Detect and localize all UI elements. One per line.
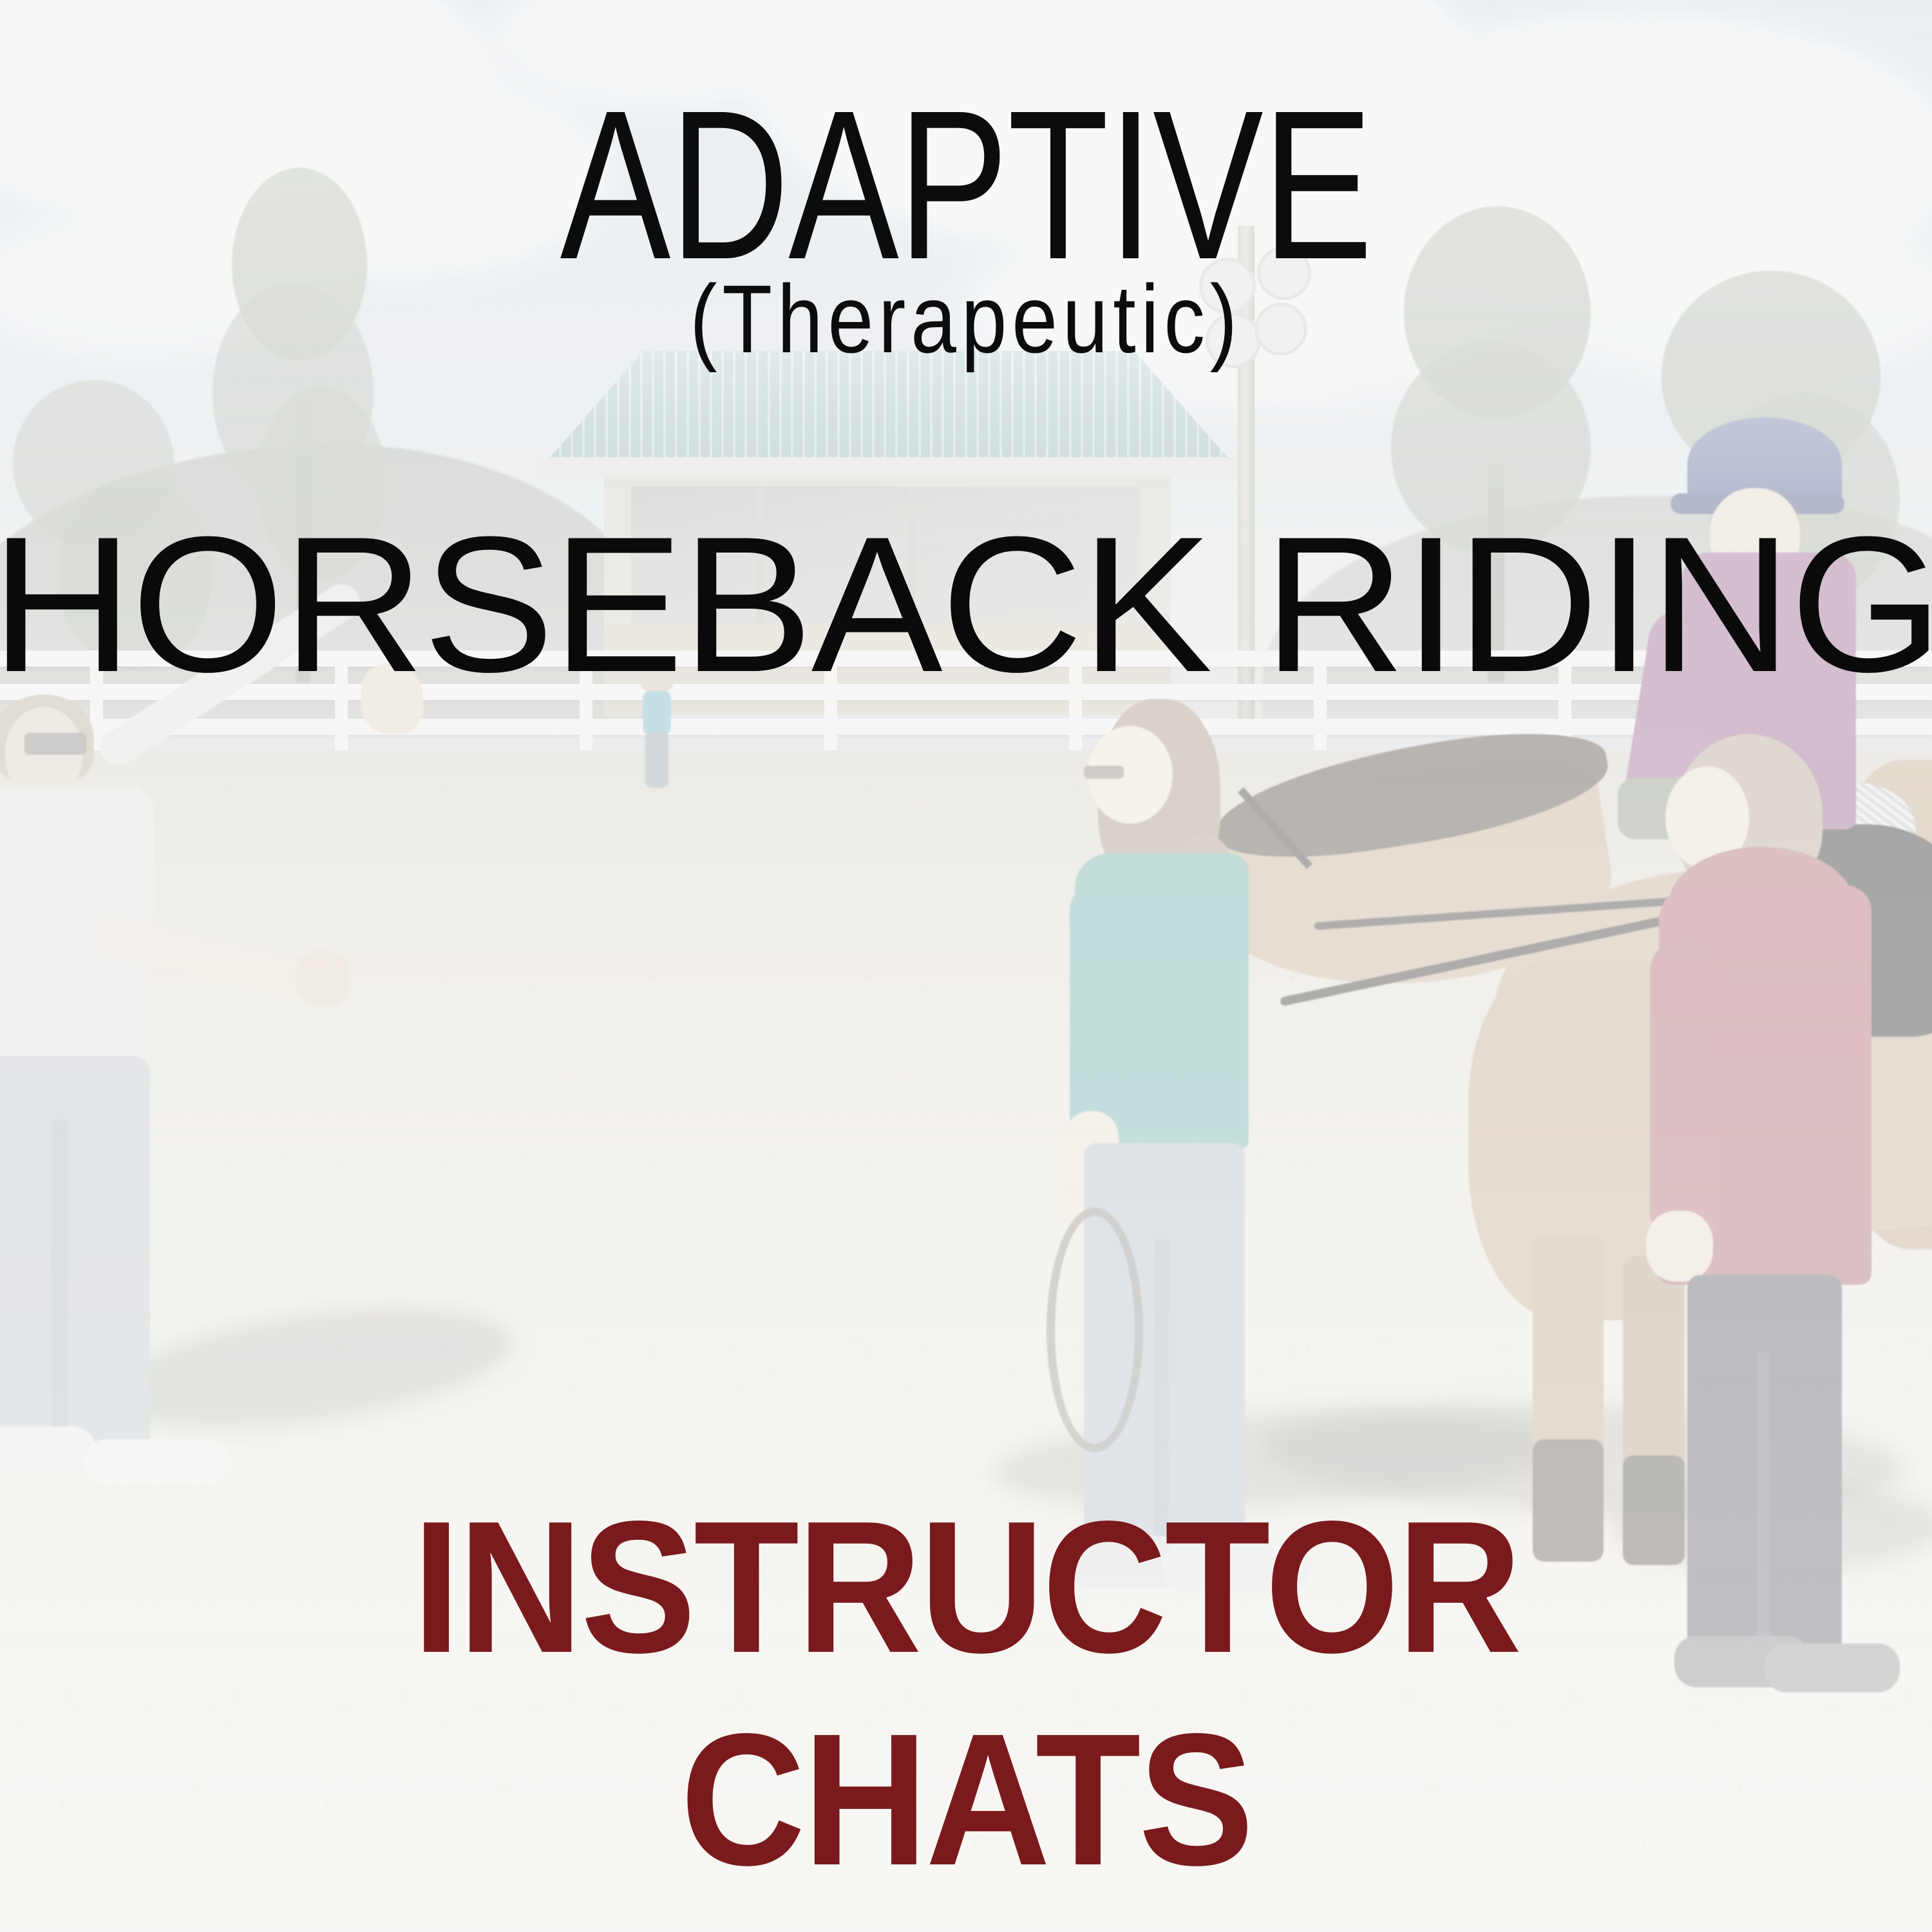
instructor-left — [0, 657, 477, 1501]
headline-line-therapeutic: (Therapeutic) — [145, 270, 1787, 367]
headline-line-adaptive: ADAPTIVE — [213, 79, 1719, 291]
lead-rope — [1046, 1207, 1143, 1452]
eyeglasses — [1084, 766, 1124, 779]
handler-center — [1072, 699, 1343, 1600]
poster-canvas: ADAPTIVE (Therapeutic) HORSEBACK RIDING … — [0, 0, 1932, 1932]
sidewalker-right — [1668, 734, 1926, 1610]
headline-line-horseback-riding: HORSEBACK RIDING — [0, 507, 1932, 701]
subhead-line-instructor: INSTRUCTOR — [77, 1493, 1855, 1681]
subhead-line-chats: CHATS — [77, 1705, 1855, 1893]
sunglasses — [24, 733, 86, 755]
